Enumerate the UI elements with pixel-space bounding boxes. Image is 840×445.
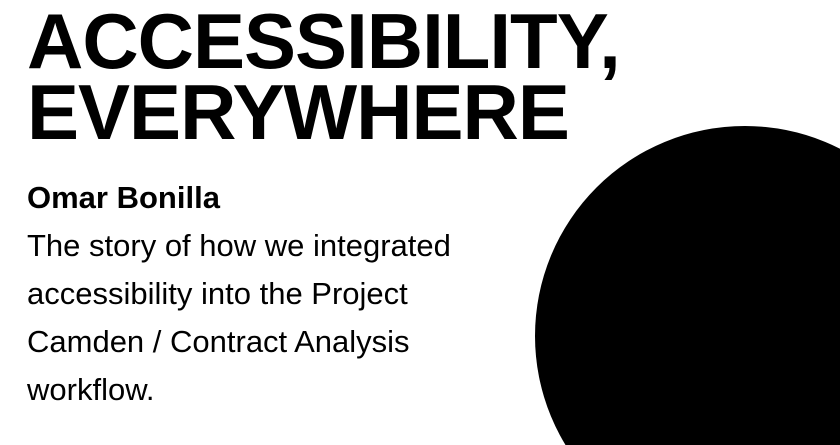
presenter-name: Omar Bonilla xyxy=(27,174,587,222)
title-slide: ACCESSIBILITY, EVERYWHERE Omar Bonilla T… xyxy=(0,0,840,445)
slide-content: ACCESSIBILITY, EVERYWHERE Omar Bonilla T… xyxy=(27,0,587,414)
slide-description: The story of how we integrated accessibi… xyxy=(27,222,532,414)
red-circle-shape xyxy=(720,240,840,445)
slide-title: ACCESSIBILITY, EVERYWHERE xyxy=(27,0,587,148)
